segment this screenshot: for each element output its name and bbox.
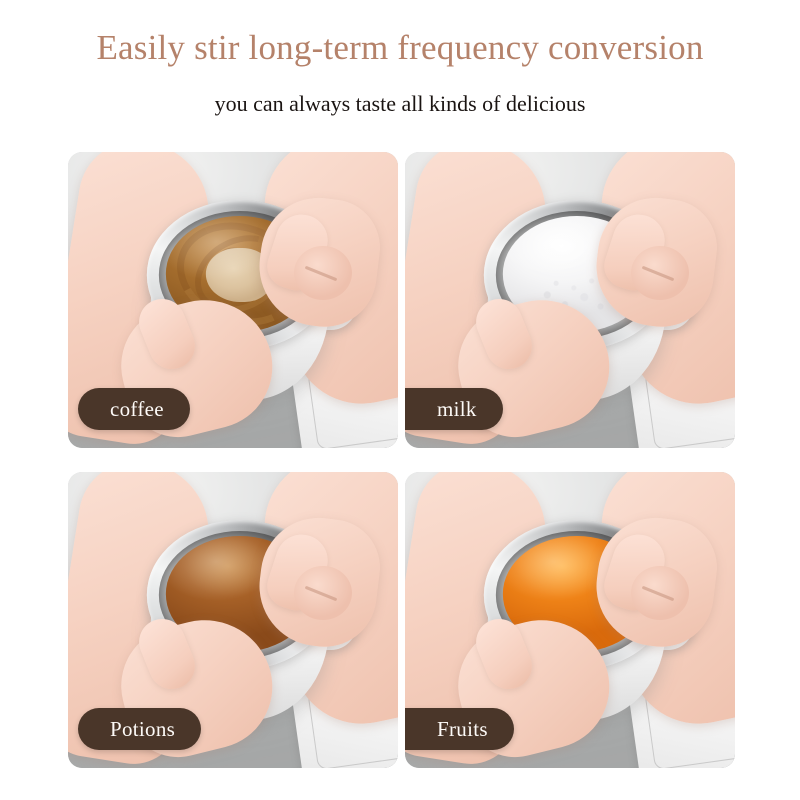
product-banner: Easily stir long-term frequency conversi… bbox=[0, 0, 800, 800]
panel-fruits[interactable]: Fruits bbox=[405, 472, 735, 768]
panel-label-potions: Potions bbox=[78, 708, 201, 750]
page-title: Easily stir long-term frequency conversi… bbox=[0, 26, 800, 70]
panel-label-milk: milk bbox=[405, 388, 503, 430]
panel-label-fruits: Fruits bbox=[405, 708, 514, 750]
panel-milk[interactable]: milk bbox=[405, 152, 735, 448]
page-subtitle: you can always taste all kinds of delici… bbox=[0, 90, 800, 119]
panel-potions[interactable]: Potions bbox=[68, 472, 398, 768]
panel-coffee[interactable]: coffee bbox=[68, 152, 398, 448]
beverage-panel-grid: coffee bbox=[68, 152, 735, 768]
header: Easily stir long-term frequency conversi… bbox=[0, 0, 800, 118]
panel-label-coffee: coffee bbox=[78, 388, 190, 430]
